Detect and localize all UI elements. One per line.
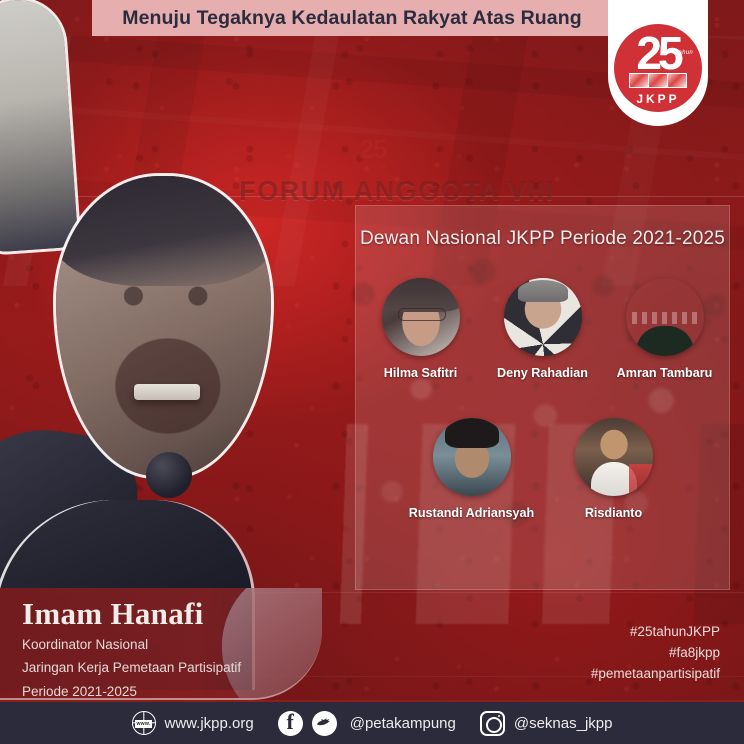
hashtag-3: #pemetaanpartisipatif [591,664,720,685]
hashtag-block: #25tahunJKPP #fa8jkpp #pemetaanpartisipa… [591,622,720,685]
social-fb-tw-item[interactable]: @petakampung [278,711,456,736]
twitter-icon[interactable] [312,711,337,736]
instagram-handle: @seknas_jkpp [514,715,613,732]
logo-tahun-label: tahun [676,50,693,56]
hero-hair [56,176,271,286]
watermark-badge-number: 25 [360,134,387,164]
profile-name: Imam Hanafi [22,598,322,631]
council-member[interactable]: Risdianto [564,418,664,520]
hashtag-2: #fa8jkpp [591,643,720,664]
council-member[interactable]: Deny Rahadian [493,278,593,380]
hero-photo-cutout [0,0,300,660]
footer-bar: www. www.jkpp.org @petakampung @seknas_j… [0,700,744,744]
poster-headline: Menuju Tegaknya Kedaulatan Rakyat Atas R… [122,7,582,30]
facebook-twitter-handle: @petakampung [350,715,456,732]
poster-canvas: 25 JKPP FORUM ANGGOTA VIII Menuju Tegakn… [0,0,744,744]
social-ig-item[interactable]: @seknas_jkpp [480,711,613,736]
globe-www-label: www. [135,720,152,728]
facebook-icon[interactable] [278,711,303,736]
hashtag-1: #25tahunJKPP [591,622,720,643]
avatar [504,278,582,356]
website-url: www.jkpp.org [165,715,254,732]
council-member-name: Hilma Safitri [384,366,457,380]
logo-org-text: JKPP [614,92,702,106]
watermark-25-badge: 25 JKPP [346,136,400,188]
avatar [433,418,511,496]
jkpp-logo-icon: 25 tahun JKPP [614,24,702,112]
watermark-badge-sub: JKPP [346,164,400,171]
council-member[interactable]: Amran Tambaru [615,278,715,380]
council-row-2: Rustandi Adriansyah Risdianto [356,418,729,520]
council-member-name: Deny Rahadian [497,366,588,380]
council-member[interactable]: Hilma Safitri [371,278,471,380]
hero-face [56,176,271,476]
council-member-name: Amran Tambaru [617,366,713,380]
microphone-icon [146,452,192,498]
council-member-name: Risdianto [585,506,642,520]
instagram-icon[interactable] [480,711,505,736]
profile-role-line-3: Periode 2021-2025 [22,682,322,700]
council-member-name: Rustandi Adriansyah [409,506,535,520]
jkpp-logo-badge: 25 tahun JKPP [608,0,708,126]
profile-role-line-2: Jaringan Kerja Pemetaan Partisipatif [22,658,322,678]
council-row-1: Hilma Safitri Deny Rahadian Amran Tambar… [356,278,729,380]
council-panel-title: Dewan Nasional JKPP Periode 2021-2025 [356,228,729,250]
council-member[interactable]: Rustandi Adriansyah [422,418,522,520]
council-panel: Dewan Nasional JKPP Periode 2021-2025 Hi… [355,205,730,590]
globe-icon: www. [132,711,156,735]
hero-smile [134,384,200,400]
website-item[interactable]: www. www.jkpp.org [132,711,254,735]
logo-photo-strip [629,73,687,88]
avatar [575,418,653,496]
avatar [626,278,704,356]
profile-role-line-1: Koordinator Nasional [22,635,322,655]
avatar [382,278,460,356]
profile-plate: Imam Hanafi Koordinator Nasional Jaringa… [0,588,322,700]
header-banner: Menuju Tegaknya Kedaulatan Rakyat Atas R… [92,0,612,36]
